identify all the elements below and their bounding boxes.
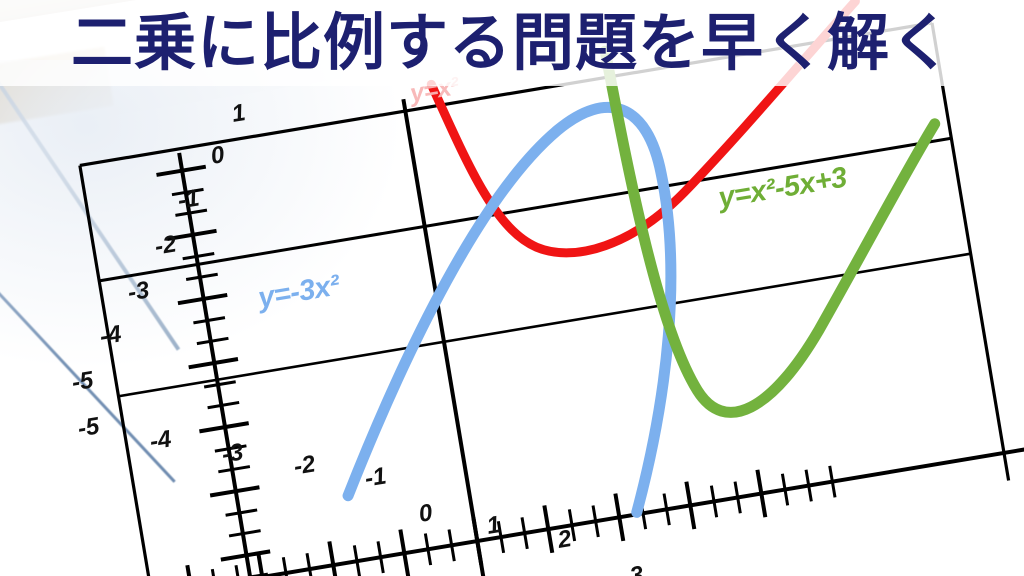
y-tick-label-minus1: -1 xyxy=(176,184,202,215)
graph-svg xyxy=(0,0,1024,576)
x-tick-label-minus1: -1 xyxy=(363,462,389,493)
x-axis-major-ticks xyxy=(187,470,765,576)
y-tick-label-minus4: -4 xyxy=(98,320,124,351)
y-axis-major-ticks xyxy=(156,167,270,560)
x-tick-label-minus4: -4 xyxy=(148,425,174,456)
title-banner: 二乗に比例する問題を早く解く xyxy=(0,0,1024,86)
x-axis-minor-ticks xyxy=(212,466,835,576)
curve-blue-y-equals-minus3x-squared xyxy=(292,100,716,559)
grid-line-y-minus4 xyxy=(118,254,970,397)
x-tick-label-minus2: -2 xyxy=(292,450,318,481)
x-tick-label-minus3: -3 xyxy=(220,438,246,469)
y-tick-label-minus3: -3 xyxy=(126,276,152,307)
y-tick-label-minus5: -5 xyxy=(70,366,96,397)
screenshot-stage: 1 0 -1 -2 -3 -4 -5 -5 -4 -3 -2 -1 0 1 2 … xyxy=(0,0,1024,576)
x-tick-label-minus5: -5 xyxy=(76,412,102,443)
y-axis-minor-ticks xyxy=(172,189,268,576)
y-tick-label-minus2: -2 xyxy=(153,230,179,261)
page-title: 二乗に比例する問題を早く解く xyxy=(71,12,953,74)
graph-area: 1 0 -1 -2 -3 -4 -5 -5 -4 -3 -2 -1 0 1 2 … xyxy=(0,0,1024,576)
x-axis-line xyxy=(152,447,1024,576)
